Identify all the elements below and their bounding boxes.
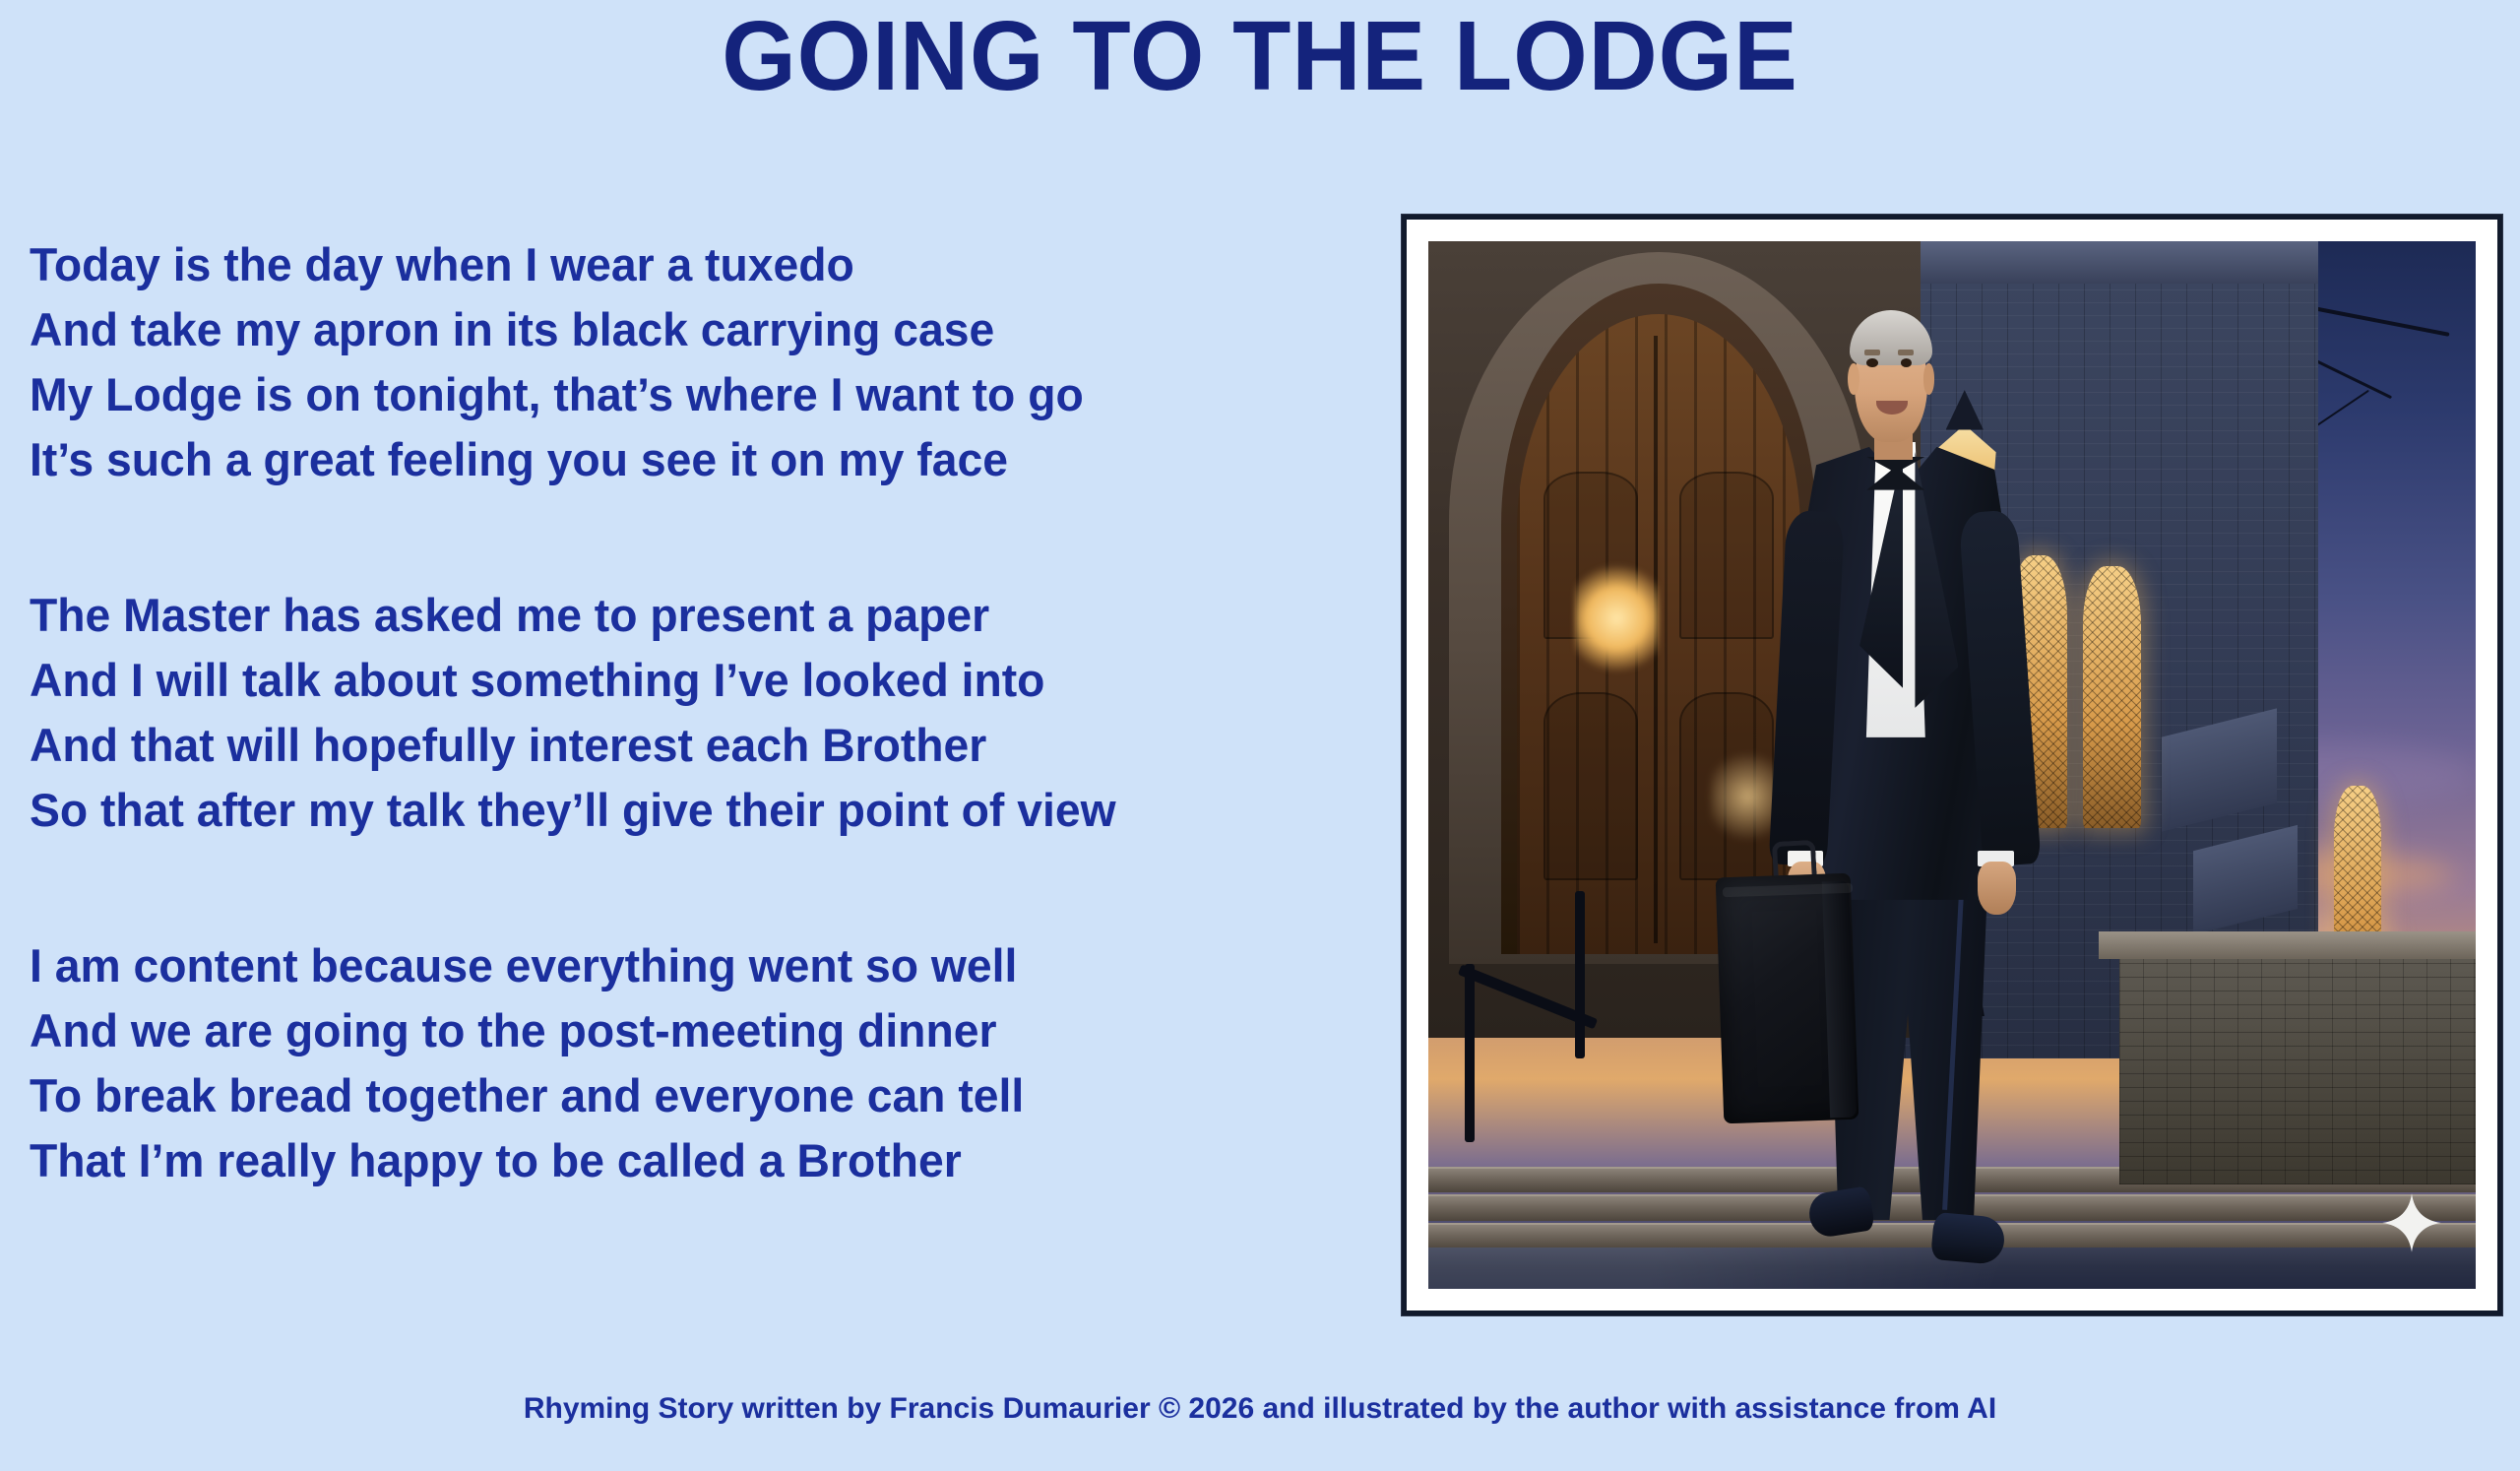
poem-line: Today is the day when I wear a tuxedo xyxy=(30,232,1367,297)
poem-line: The Master has asked me to present a pap… xyxy=(30,583,1367,648)
hand xyxy=(1978,862,2016,915)
eyebrow xyxy=(1898,350,1914,355)
door-panel xyxy=(1543,692,1638,881)
eyebrow xyxy=(1864,350,1880,355)
poem-line: And that will hopefully interest each Br… xyxy=(30,713,1367,778)
poem-line: And I will talk about something I’ve loo… xyxy=(30,648,1367,713)
illustration-image xyxy=(1428,241,2476,1289)
poem-line: It’s such a great feeling you see it on … xyxy=(30,427,1367,492)
handrail-post xyxy=(1465,964,1475,1142)
poster-page: GOING TO THE LODGE Today is the day when… xyxy=(0,0,2520,1471)
poem-line: To break bread together and everyone can… xyxy=(30,1063,1367,1128)
handrail-post xyxy=(1575,891,1585,1058)
shoe xyxy=(1806,1185,1875,1239)
poem-line: And we are going to the post-meeting din… xyxy=(30,998,1367,1063)
poem-line: That I’m really happy to be called a Bro… xyxy=(30,1128,1367,1193)
page-title: GOING TO THE LODGE xyxy=(37,2,2482,110)
poem-line: And take my apron in its black carrying … xyxy=(30,297,1367,362)
poem-body: Today is the day when I wear a tuxedo An… xyxy=(30,232,1388,1193)
stanza-1: Today is the day when I wear a tuxedo An… xyxy=(30,232,1388,492)
stanza-2: The Master has asked me to present a pap… xyxy=(30,583,1388,843)
credit-line: Rhyming Story written by Francis Dumauri… xyxy=(0,1392,2520,1426)
poem-line: I am content because everything went so … xyxy=(30,933,1367,998)
ear xyxy=(1923,363,1935,395)
illustration-frame xyxy=(1402,215,2502,1315)
poem-line: My Lodge is on tonight, that’s where I w… xyxy=(30,362,1367,427)
sparkle-icon xyxy=(2381,1192,2442,1253)
interior-glow xyxy=(1575,555,1659,681)
man-in-tuxedo xyxy=(1701,304,2182,1289)
poem-line: So that after my talk they’ll give their… xyxy=(30,778,1367,843)
shoe xyxy=(1930,1212,2006,1265)
stanza-3: I am content because everything went so … xyxy=(30,933,1388,1193)
hair xyxy=(1850,310,1931,365)
building-roofline xyxy=(1879,241,2319,284)
ear xyxy=(1848,363,1859,395)
eye xyxy=(1866,358,1877,367)
